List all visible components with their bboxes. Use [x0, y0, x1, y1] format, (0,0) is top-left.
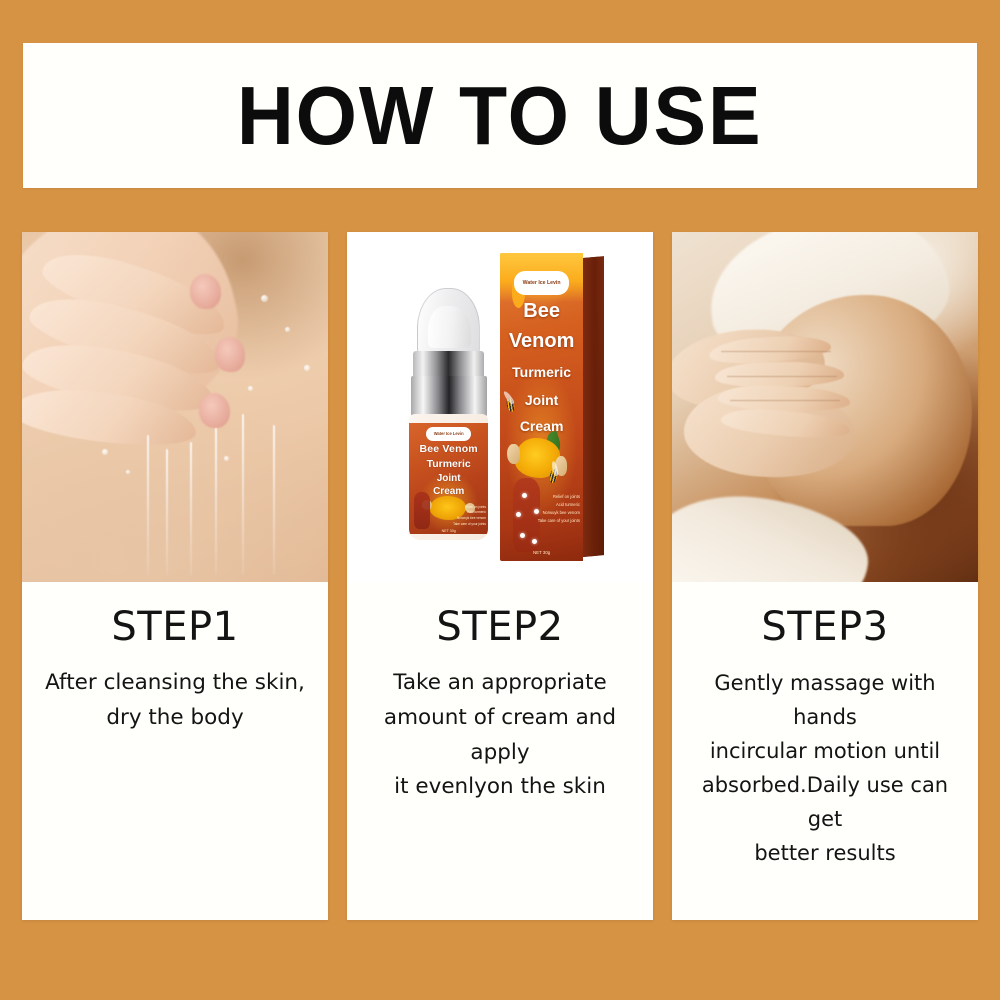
steps-container: STEP1 After cleansing the skin, dry the … — [0, 232, 1000, 922]
bee-icon — [505, 397, 515, 412]
ginger-root-graphic — [507, 444, 519, 464]
box-title-line3: Turmeric — [500, 364, 583, 380]
box-title-line1: Bee — [500, 302, 583, 321]
box-benefit-item: Acid turmeric — [533, 501, 580, 509]
water-streak — [242, 414, 244, 575]
box-net-weight: NET 30g — [500, 550, 583, 555]
box-title-line5: Cream — [500, 418, 583, 434]
water-droplet — [224, 456, 229, 461]
product-photo: Water Ice Levin Bee Venom Turmeric Joint… — [347, 232, 653, 582]
step-description-line: After cleansing the skin, — [32, 666, 318, 701]
box-title-line2: Venom — [500, 332, 583, 351]
fingertip-shape — [190, 274, 221, 309]
bottle-neck — [411, 376, 487, 419]
step-caption-2: STEP2 Take an appropriate amount of crea… — [347, 582, 653, 920]
bottle-collar — [413, 351, 484, 379]
box-side-text — [585, 274, 602, 282]
bottle-benefit-list: Relief on joints Acid turmeric Norwuyk b… — [440, 505, 486, 527]
box-front-panel: Water Ice Levin Bee Venom Turmeric Joint… — [500, 253, 583, 561]
step-description-line: incircular motion until — [682, 734, 968, 768]
water-droplet — [126, 470, 130, 474]
title-banner: HOW TO USE — [23, 43, 977, 188]
step-card-3: STEP3 Gently massage with hands incircul… — [672, 232, 978, 920]
box-benefit-item: Relief on joints — [533, 493, 580, 501]
bottle-label: Water Ice Levin Bee Venom Turmeric Joint… — [409, 423, 488, 534]
water-streak — [215, 428, 217, 575]
step-description: After cleansing the skin, dry the body — [32, 666, 318, 736]
bottle-net-weight: NET 30g — [409, 529, 488, 533]
page-title: HOW TO USE — [237, 74, 763, 157]
step-label: STEP3 — [682, 606, 968, 648]
bottle-title-line1: Bee Venom — [409, 443, 488, 455]
bottle-brand-logo: Water Ice Levin — [426, 427, 470, 440]
water-droplet — [102, 449, 108, 455]
step-description-line: Take an appropriate — [357, 666, 643, 701]
step-description-line: dry the body — [32, 701, 318, 736]
water-streak — [166, 449, 168, 575]
step-caption-1: STEP1 After cleansing the skin, dry the … — [22, 582, 328, 920]
box-benefit-item: Take care of your joints — [533, 517, 580, 525]
bottle-benefit-item: Take care of your joints — [440, 522, 486, 528]
step-description: Take an appropriate amount of cream and … — [357, 666, 643, 805]
bottle-body: Water Ice Levin Bee Venom Turmeric Joint… — [409, 414, 488, 540]
water-droplet — [248, 386, 253, 391]
step-description-line: amount of cream and apply — [357, 701, 643, 771]
fingertip-shape — [199, 393, 230, 428]
product-box: Water Ice Levin Bee Venom Turmeric Joint… — [500, 253, 604, 561]
joint-marker — [516, 512, 521, 517]
box-side-text-line — [585, 274, 602, 282]
fingertip-shape — [215, 337, 246, 372]
wet-skin-hand-photo — [22, 232, 328, 582]
massage-hands-photo — [672, 232, 978, 582]
step-card-2: Water Ice Levin Bee Venom Turmeric Joint… — [347, 232, 653, 920]
water-streak — [190, 442, 192, 575]
box-side-panel — [583, 256, 604, 557]
step-description-line: absorbed.Daily use can get — [682, 768, 968, 836]
box-benefit-list: Relief on joints Acid turmeric Norwuyk b… — [533, 493, 580, 524]
step-caption-3: STEP3 Gently massage with hands incircul… — [672, 582, 978, 920]
step-label: STEP1 — [32, 606, 318, 648]
step-description-line: better results — [682, 836, 968, 870]
box-brand-logo: Water Ice Levin — [514, 271, 569, 294]
water-droplet — [304, 365, 310, 371]
bottle-title-line3: Joint — [409, 473, 488, 484]
bottle-pump-nozzle — [428, 306, 471, 349]
step-description-line: it evenlyon the skin — [357, 770, 643, 805]
product-bottle: Water Ice Levin Bee Venom Turmeric Joint… — [408, 288, 491, 540]
body-silhouette-graphic — [414, 492, 430, 530]
step-card-1: STEP1 After cleansing the skin, dry the … — [22, 232, 328, 920]
bottle-title-line2: Turmeric — [409, 458, 488, 470]
water-droplet — [261, 295, 268, 302]
step-description-line: Gently massage with hands — [682, 666, 968, 734]
step-label: STEP2 — [357, 606, 643, 648]
step-description: Gently massage with hands incircular mot… — [682, 666, 968, 870]
water-droplet — [285, 327, 290, 332]
finger-crease — [727, 376, 837, 377]
box-benefit-item: Norwuyk bee venom — [533, 509, 580, 517]
water-streak — [147, 435, 149, 575]
water-streak — [273, 425, 275, 576]
